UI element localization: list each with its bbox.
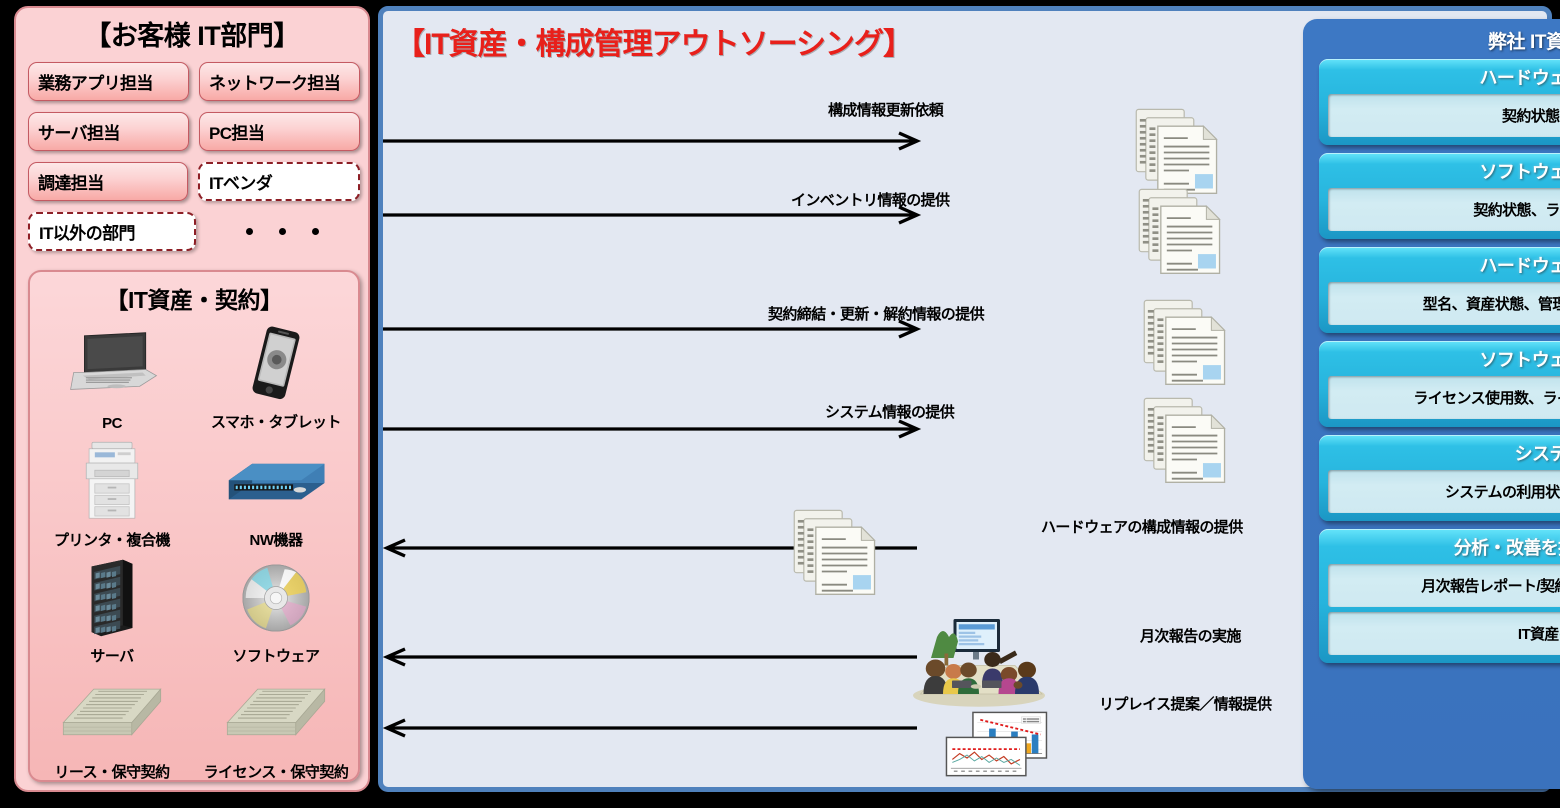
department-button[interactable]: 業務アプリ担当 xyxy=(28,62,189,101)
documents-icon xyxy=(1143,298,1227,393)
service-box-heading: ソフトウェアの構成情報管理業務 xyxy=(1328,343,1560,376)
cd-disc-icon xyxy=(194,552,358,643)
assets-panel-title: 【IT資産・契約】 xyxy=(30,272,358,315)
service-box-list: ハードウェアの契約情報管理業務契約状態、契約期限等の情報管理ソフトウェアの契約情… xyxy=(1319,59,1560,663)
department-button-grid: 業務アプリ担当ネットワーク担当サーバ担当PC担当調達担当ITベンダIT以外の部門 xyxy=(28,62,360,262)
department-button[interactable]: 調達担当 xyxy=(28,162,188,201)
asset-item: PC xyxy=(30,316,194,434)
service-box-heading: ハードウェアの構成情報管理業務 xyxy=(1328,249,1560,282)
service-center-panel: 弊社 IT資産・構成管理センタ ハードウェアの契約情報管理業務契約状態、契約期限… xyxy=(1303,19,1560,789)
asset-item: ソフトウェア xyxy=(194,552,358,668)
asset-label: プリンタ・複合機 xyxy=(54,529,170,550)
asset-label: スマホ・タブレット xyxy=(211,411,341,432)
asset-item: サーバ xyxy=(30,552,194,668)
service-center-title: 弊社 IT資産・構成管理センタ xyxy=(1319,23,1560,59)
flow-label: システム情報の提供 xyxy=(825,401,954,422)
documents-icon xyxy=(1138,187,1222,282)
department-row: 調達担当ITベンダ xyxy=(28,162,360,201)
flow-label: 契約締結・更新・解約情報の提供 xyxy=(768,303,984,324)
network-switch-icon xyxy=(194,434,358,527)
customer-it-department-panel: 【お客様 IT部門】 業務アプリ担当ネットワーク担当サーバ担当PC担当調達担当I… xyxy=(14,6,370,792)
asset-label: ライセンス・保守契約 xyxy=(204,761,349,782)
documents-icon xyxy=(793,508,877,603)
service-box[interactable]: ソフトウェアの構成情報管理業務ライセンス使用数、ライセンス使用PC・サーバ等の情… xyxy=(1319,341,1560,427)
department-row: IT以外の部門 xyxy=(28,212,360,251)
service-box-item: ライセンス使用数、ライセンス使用PC・サーバ等の情報管理 xyxy=(1328,376,1560,419)
outsourcing-panel: 【IT資産・構成管理アウトソーシング】 構成情報更新依頼 インベントリ情報の提供 xyxy=(378,6,1552,792)
smartphone-icon xyxy=(194,316,358,409)
asset-item: ライセンス・保守契約 xyxy=(194,668,358,784)
service-box-item: 契約状態、ライセンス保有数等の情報管理 xyxy=(1328,188,1560,231)
asset-label: リース・保守契約 xyxy=(54,761,169,782)
flow-label: 月次報告の実施 xyxy=(1140,625,1241,646)
service-box[interactable]: ハードウェアの構成情報管理業務型名、資産状態、管理者・利用者、設置場所等の情報管… xyxy=(1319,247,1560,333)
ellipsis-dots xyxy=(206,212,361,251)
it-assets-contracts-panel: 【IT資産・契約】 PC スマホ・タブレット プリンタ・複合機 xyxy=(28,270,360,782)
asset-label: ソフトウェア xyxy=(232,645,319,666)
contract-stack-icon xyxy=(30,668,194,759)
asset-item: スマホ・タブレット xyxy=(194,316,358,434)
asset-item: リース・保守契約 xyxy=(30,668,194,784)
flow-label: リプレイス提案／情報提供 xyxy=(1099,693,1271,714)
department-button[interactable]: サーバ担当 xyxy=(28,112,189,151)
department-button[interactable]: ネットワーク担当 xyxy=(199,62,360,101)
service-box-item: 契約状態、契約期限等の情報管理 xyxy=(1328,94,1560,137)
service-box-item: システムの利用状態、システム担当者等の情報管理 xyxy=(1328,470,1560,513)
asset-label: PC xyxy=(102,415,122,432)
asset-item: NW機器 xyxy=(194,434,358,552)
customer-panel-title: 【お客様 IT部門】 xyxy=(16,8,368,53)
asset-label: NW機器 xyxy=(250,529,303,550)
department-row: 業務アプリ担当ネットワーク担当 xyxy=(28,62,360,101)
service-box-item: 型名、資産状態、管理者・利用者、設置場所等の情報管理 xyxy=(1328,282,1560,325)
laptop-icon xyxy=(30,316,194,413)
printer-icon xyxy=(30,434,194,527)
service-box[interactable]: ソフトウェアの契約情報管理業務契約状態、ライセンス保有数等の情報管理 xyxy=(1319,153,1560,239)
service-box[interactable]: 分析・改善を推進するマネジメント業務月次報告レポート/契約期限が近づいている契約… xyxy=(1319,529,1560,663)
documents-icon xyxy=(1143,396,1227,491)
report-charts-icon xyxy=(936,683,1054,789)
contract-stack-icon xyxy=(194,668,358,759)
flow-label: 構成情報更新依頼 xyxy=(828,99,943,120)
asset-item: プリンタ・複合機 xyxy=(30,434,194,552)
department-button[interactable]: PC担当 xyxy=(199,112,360,151)
flow-label: インベントリ情報の提供 xyxy=(791,189,949,210)
service-box-item: 月次報告レポート/契約期限が近づいている契約一覧の作成 xyxy=(1328,564,1560,607)
service-box-heading: 分析・改善を推進するマネジメント業務 xyxy=(1328,531,1560,564)
department-button[interactable]: IT以外の部門 xyxy=(28,212,196,251)
service-box-heading: システム情報の管理業務 xyxy=(1328,437,1560,470)
service-box-item: IT資産のライフサイクル管理 xyxy=(1328,612,1560,655)
service-box-heading: ハードウェアの契約情報管理業務 xyxy=(1328,61,1560,94)
service-box[interactable]: システム情報の管理業務システムの利用状態、システム担当者等の情報管理 xyxy=(1319,435,1560,521)
asset-icon-grid: PC スマホ・タブレット プリンタ・複合機 NW機 xyxy=(30,316,358,784)
flow-label: ハードウェアの構成情報の提供 xyxy=(1041,516,1243,537)
asset-label: サーバ xyxy=(90,645,133,666)
department-row: サーバ担当PC担当 xyxy=(28,112,360,151)
department-button[interactable]: ITベンダ xyxy=(198,162,360,201)
service-box-heading: ソフトウェアの契約情報管理業務 xyxy=(1328,155,1560,188)
server-rack-icon xyxy=(30,552,194,643)
service-box[interactable]: ハードウェアの契約情報管理業務契約状態、契約期限等の情報管理 xyxy=(1319,59,1560,145)
